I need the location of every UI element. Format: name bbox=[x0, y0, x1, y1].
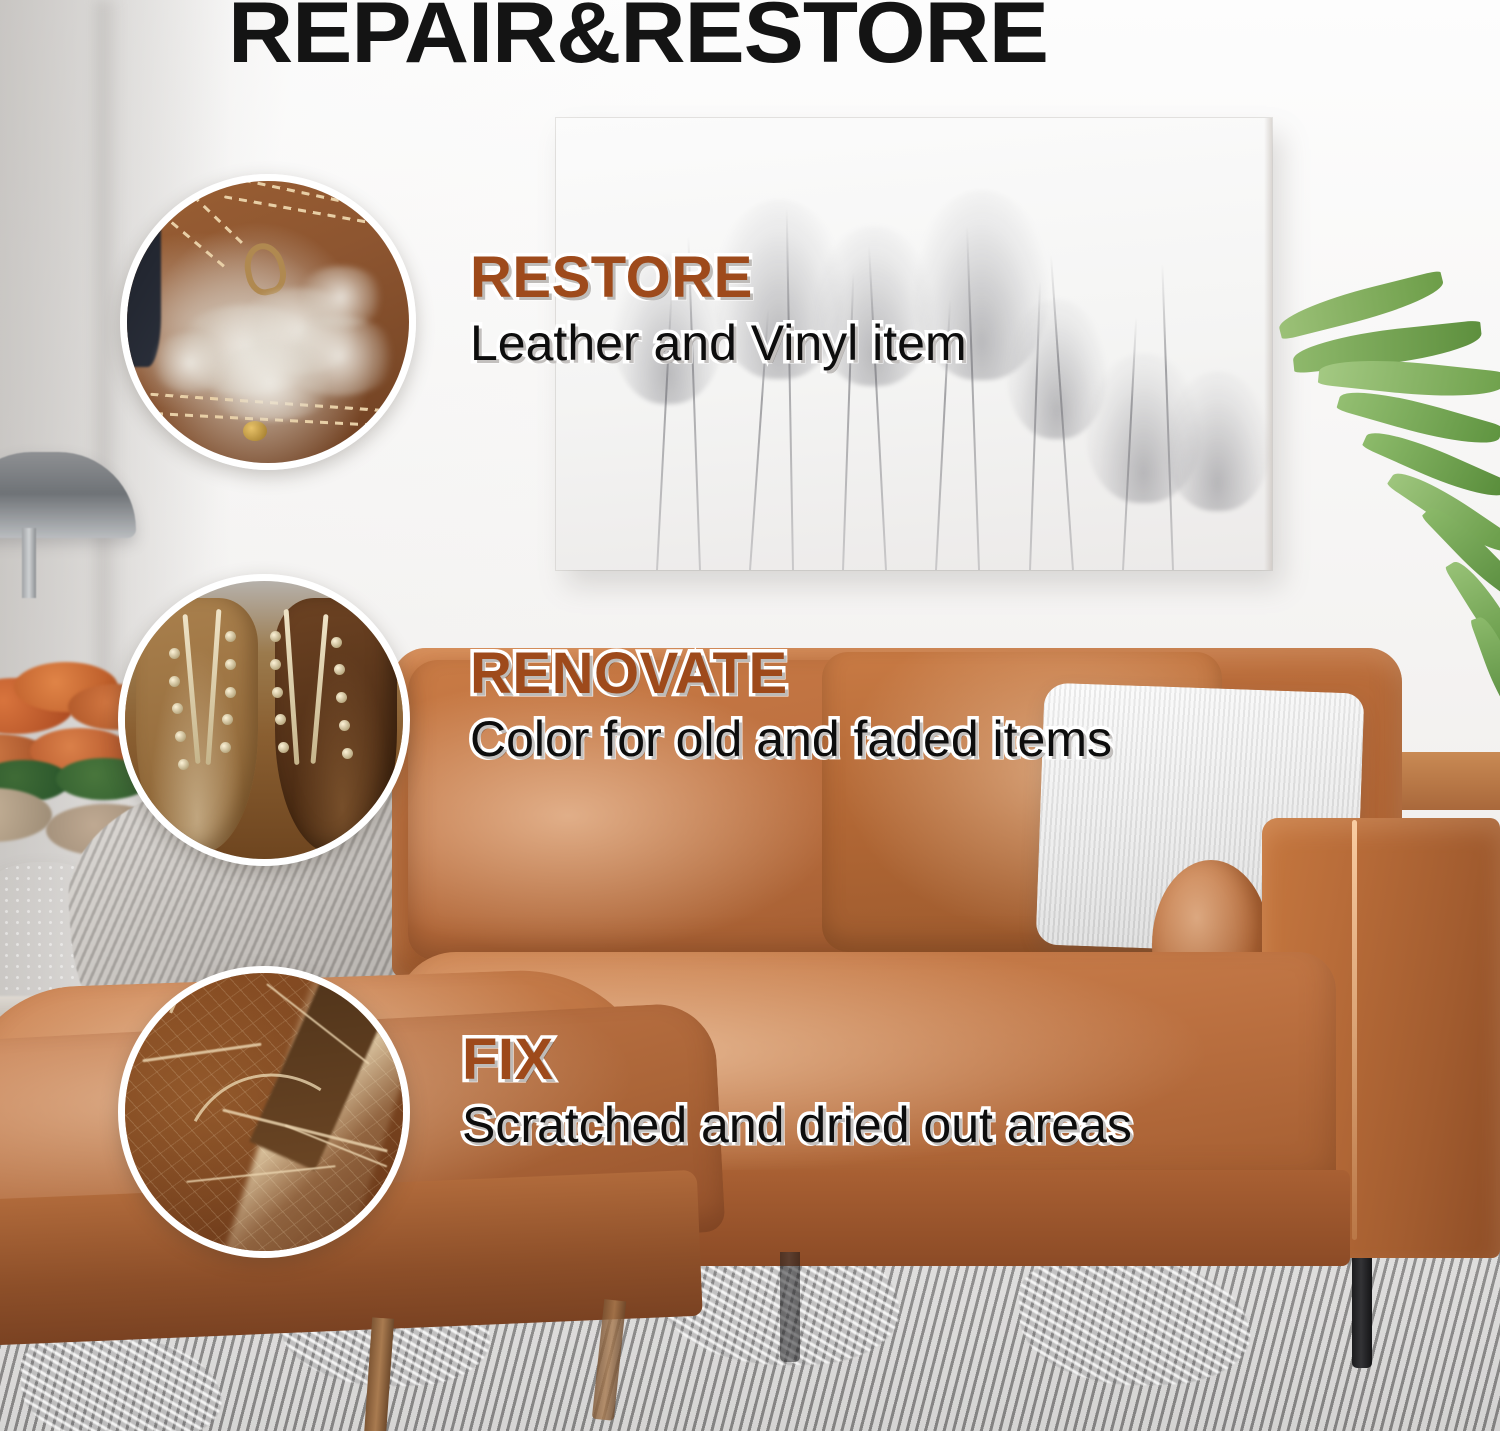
callout-subtitle-restore: Leather and Vinyl item bbox=[470, 314, 967, 372]
inset-circle-renovate bbox=[118, 574, 410, 866]
leather-boots-photo bbox=[125, 581, 403, 859]
callout-subtitle-renovate: Color for old and faded items bbox=[470, 710, 1112, 768]
armrest-piping bbox=[1352, 820, 1357, 1240]
brass-rivet bbox=[243, 421, 267, 441]
sofa-leg-right bbox=[1352, 1258, 1372, 1368]
callout-title-fix: FIX bbox=[462, 1030, 1132, 1090]
callout-title-restore: RESTORE bbox=[470, 248, 967, 308]
product-feature-image: REPAIR&RESTORE RESTORE Leather and Vinyl… bbox=[0, 0, 1500, 1431]
scratched-leather-photo bbox=[125, 973, 403, 1251]
inset-circle-restore bbox=[120, 174, 416, 470]
table-lamp-neck bbox=[22, 528, 36, 598]
inset-circle-fix bbox=[118, 966, 410, 1258]
page-title: REPAIR&RESTORE bbox=[228, 0, 1352, 74]
callout-title-renovate: RENOVATE bbox=[470, 644, 1112, 704]
leather-bag-photo bbox=[127, 181, 409, 463]
sofa-leg-center bbox=[780, 1252, 800, 1362]
callout-renovate: RENOVATE Color for old and faded items bbox=[470, 644, 1112, 768]
callout-subtitle-fix: Scratched and dried out areas bbox=[462, 1096, 1132, 1154]
callout-restore: RESTORE Leather and Vinyl item bbox=[470, 248, 967, 372]
callout-fix: FIX Scratched and dried out areas bbox=[462, 1030, 1132, 1154]
